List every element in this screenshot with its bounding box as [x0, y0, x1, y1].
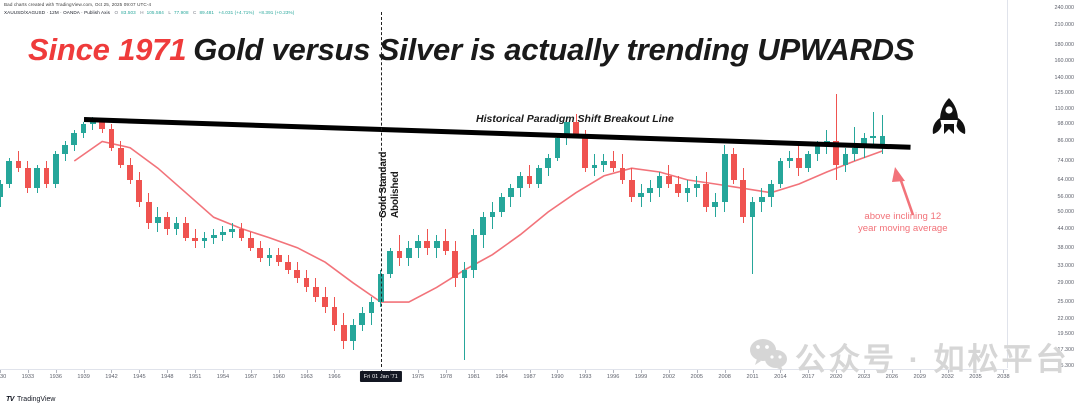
time-axis-tick: 1930	[0, 374, 6, 380]
time-axis-tick: 1960	[272, 374, 284, 380]
time-axis-tick: 1954	[217, 374, 229, 380]
annotation-arrow-icon	[885, 165, 945, 225]
time-axis-tick: 1993	[579, 374, 591, 380]
price-axis-tick: 180.000	[1055, 42, 1075, 48]
time-axis-tickmark	[530, 370, 531, 373]
time-axis-tickmark	[697, 370, 698, 373]
time-axis-tick: 1999	[635, 374, 647, 380]
time-axis-tickmark	[502, 370, 503, 373]
time-axis-tick: 1963	[300, 374, 312, 380]
time-axis-tickmark	[669, 370, 670, 373]
price-axis-tick: 38.000	[1058, 245, 1075, 251]
time-axis-tick: 1984	[495, 374, 507, 380]
price-axis-tick: 110.000	[1055, 106, 1074, 112]
time-axis-tick: 1939	[77, 374, 89, 380]
time-axis-tickmark	[56, 370, 57, 373]
chart-plot-area[interactable]	[0, 0, 1008, 368]
time-axis-tickmark	[641, 370, 642, 373]
price-axis-tick: 44.000	[1058, 226, 1075, 232]
price-axis-tick: 140.000	[1055, 75, 1075, 81]
price-axis-tick: 25.000	[1058, 299, 1075, 305]
price-axis-tick: 50.000	[1058, 209, 1075, 215]
time-axis-tick: 1957	[245, 374, 257, 380]
time-axis-tick: 1945	[133, 374, 145, 380]
time-axis-tick: 1942	[105, 374, 117, 380]
time-axis-tickmark	[418, 370, 419, 373]
time-axis-tickmark	[28, 370, 29, 373]
time-axis-tickmark	[334, 370, 335, 373]
time-axis-tickmark	[139, 370, 140, 373]
time-axis-tickmark	[279, 370, 280, 373]
time-axis-tick: 2008	[718, 374, 730, 380]
time-axis-tick: 1933	[22, 374, 34, 380]
time-axis-tickmark	[223, 370, 224, 373]
price-axis-tick: 33.000	[1058, 263, 1075, 269]
time-axis-tick: 1966	[328, 374, 340, 380]
price-axis-tick: 240.000	[1055, 5, 1075, 11]
watermark-text: 公众号 · 如松平台	[795, 334, 1070, 379]
time-axis-tick: 2005	[691, 374, 703, 380]
time-axis-tick: 1978	[440, 374, 452, 380]
time-axis-tick: 1975	[412, 374, 424, 380]
price-axis-tick: 29.000	[1058, 280, 1075, 286]
gold-standard-label-line2: Abolished	[390, 171, 401, 218]
time-axis-tickmark	[84, 370, 85, 373]
time-axis-tickmark	[251, 370, 252, 373]
tradingview-logo[interactable]: TV TradingView	[6, 396, 55, 403]
price-axis-tick: 160.000	[1055, 58, 1075, 64]
price-axis-tick: 210.000	[1055, 22, 1075, 28]
time-axis-tickmark	[474, 370, 475, 373]
time-axis-tickmark	[725, 370, 726, 373]
time-axis-tick: 2014	[774, 374, 786, 380]
price-axis-tick: 22.000	[1058, 316, 1075, 322]
time-axis-tick: 1987	[523, 374, 535, 380]
time-axis-tick: 2011	[747, 374, 759, 380]
time-axis-tick: 1936	[50, 374, 62, 380]
gold-standard-label-line1: Gold Standard	[378, 152, 389, 218]
rocket-icon	[928, 96, 970, 140]
price-axis-tick: 125.000	[1055, 90, 1075, 96]
time-axis-tick: 1948	[161, 374, 173, 380]
time-axis-tick: 1996	[607, 374, 619, 380]
price-axis-tick: 98.000	[1058, 121, 1075, 127]
time-axis-tick: 1981	[468, 374, 480, 380]
time-axis-tick: 1990	[551, 374, 563, 380]
time-axis-tick: 2002	[663, 374, 675, 380]
wechat-icon	[748, 338, 788, 372]
time-axis-tickmark	[111, 370, 112, 373]
time-axis-tick: 1951	[189, 374, 201, 380]
time-axis-tickmark	[195, 370, 196, 373]
time-axis-date-pill: Fri 01 Jan '71	[360, 371, 402, 382]
time-axis-tickmark	[585, 370, 586, 373]
price-axis-tick: 74.000	[1058, 158, 1075, 164]
price-axis-tick: 86.000	[1058, 138, 1075, 144]
breakout-trendline-label: Historical Paradigm Shift Breakout Line	[476, 113, 674, 125]
price-axis[interactable]: 240.000210.000180.000160.000140.000125.0…	[1007, 0, 1080, 368]
time-axis-tickmark	[167, 370, 168, 373]
time-axis-tickmark	[307, 370, 308, 373]
time-axis-tickmark	[446, 370, 447, 373]
tradingview-mark: TV	[6, 396, 14, 403]
price-axis-tick: 64.000	[1058, 177, 1075, 183]
time-axis-tickmark	[613, 370, 614, 373]
price-axis-tick: 56.000	[1058, 194, 1075, 200]
moving-average-line	[0, 0, 1008, 368]
time-axis-tickmark	[0, 370, 1, 373]
time-axis-tickmark	[557, 370, 558, 373]
tradingview-name: TradingView	[17, 396, 56, 403]
